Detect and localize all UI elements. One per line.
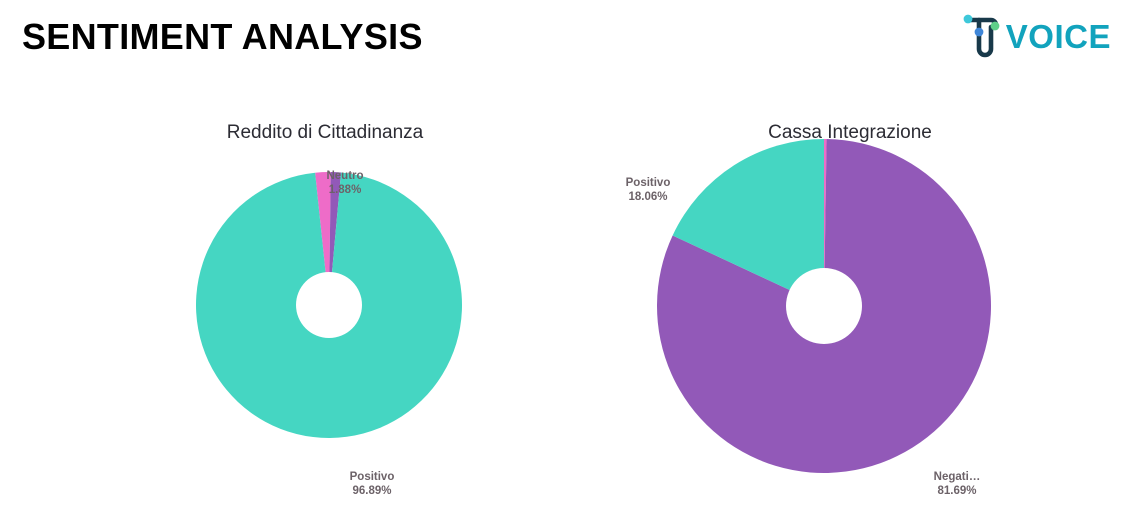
slice-label-name: Positivo xyxy=(612,177,684,191)
slice-label-name: Negati… xyxy=(918,471,996,485)
slice-label-positivo-left: Positivo 96.89% xyxy=(332,471,412,498)
donut-hole-right xyxy=(786,268,862,344)
donut-chart-left xyxy=(196,172,462,438)
donut-chart-right xyxy=(657,139,991,473)
slice-label-name: Positivo xyxy=(332,471,412,485)
t-voice-logo-icon xyxy=(957,9,1009,61)
chart-panel-cassa-integrazione: Cassa Integrazione Positivo 18.06% Negat… xyxy=(590,88,1110,514)
page-title: SENTIMENT ANALYSIS xyxy=(22,16,423,58)
slice-label-neutro-left: Neutro 1.88% xyxy=(315,170,375,197)
slice-label-value: 1.88% xyxy=(315,184,375,198)
slice-label-value: 18.06% xyxy=(612,191,684,205)
donut-chart-left-svg xyxy=(196,172,462,438)
chart-title-left: Reddito di Cittadinanza xyxy=(60,122,590,144)
donut-hole-left xyxy=(296,272,362,338)
charts-container: Reddito di Cittadinanza Neutro 1.88% Pos… xyxy=(0,88,1125,514)
slice-label-positivo-right: Positivo 18.06% xyxy=(612,177,684,204)
slice-label-value: 96.89% xyxy=(332,485,412,499)
donut-chart-right-svg xyxy=(657,139,991,473)
slice-label-value: 81.69% xyxy=(918,485,996,499)
chart-panel-reddito-di-cittadinanza: Reddito di Cittadinanza Neutro 1.88% Pos… xyxy=(60,88,590,514)
logo-wordmark: VOICE xyxy=(1006,20,1111,53)
slice-label-name: Neutro xyxy=(315,170,375,184)
page-header: SENTIMENT ANALYSIS VOICE xyxy=(0,0,1125,88)
brand-logo: VOICE xyxy=(957,7,1111,63)
slice-label-negativo-right: Negati… 81.69% xyxy=(918,471,996,498)
